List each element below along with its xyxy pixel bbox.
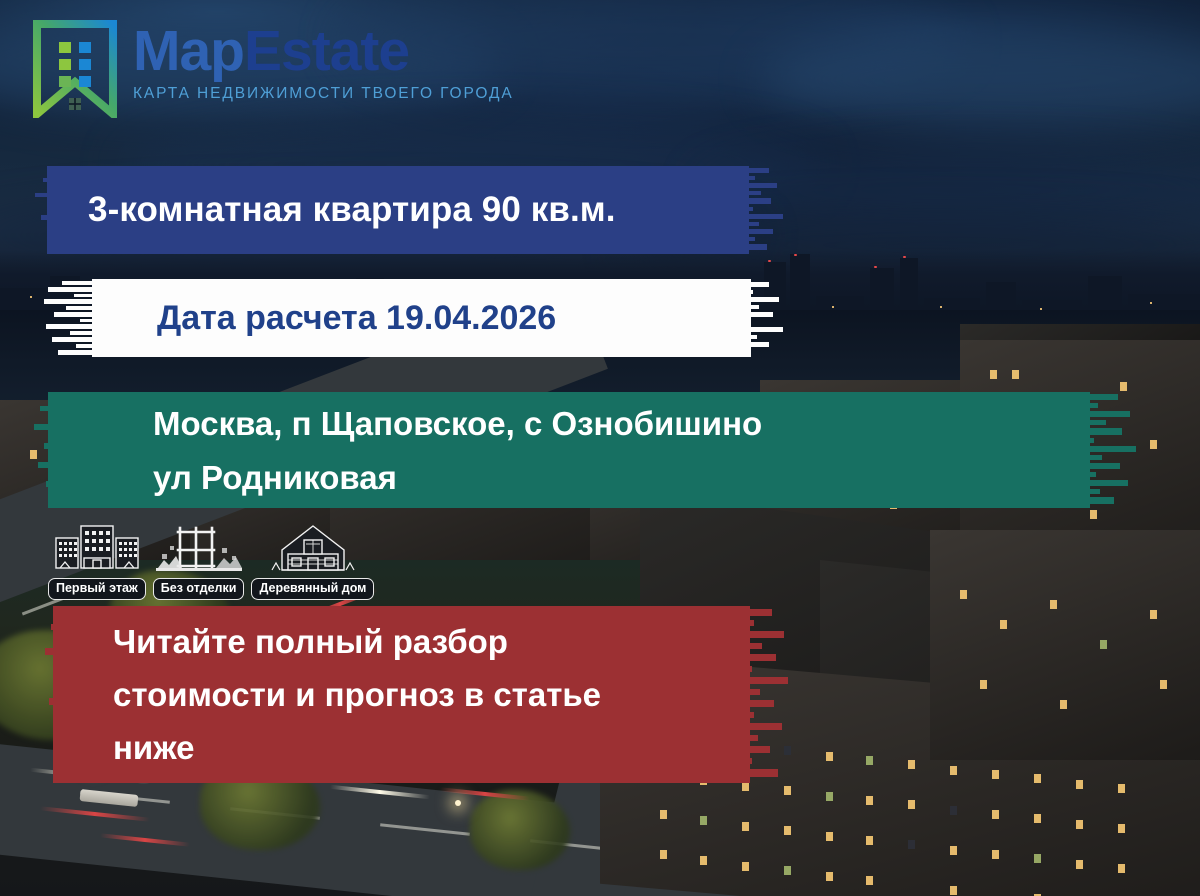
property-banner: 3-комнатная квартира 90 кв.м. (47, 166, 789, 254)
cta-line-1: Читайте полный разбор (113, 615, 601, 668)
address-line-2: ул Родниковая (153, 451, 762, 505)
property-banner-text: 3-комнатная квартира 90 кв.м. (47, 190, 616, 230)
address-line-1: Москва, п Щаповское, с Ознобишино (153, 397, 762, 451)
logo-title: MapEstate (133, 24, 514, 80)
feature-wooden-house[interactable]: Деревянный дом (251, 524, 374, 600)
feature-no-finishing[interactable]: Без отделки (153, 524, 245, 600)
cta-line-2: стоимости и прогноз в статье (113, 668, 601, 721)
cta-line-3: ниже (113, 721, 601, 774)
feature-label: Без отделки (153, 578, 245, 600)
address-banner: Москва, п Щаповское, с Ознобишино ул Род… (48, 392, 1138, 508)
cta-banner: Читайте полный разбор стоимости и прогно… (53, 606, 788, 783)
feature-first-floor[interactable]: Первый этаж (48, 524, 146, 600)
feature-label: Первый этаж (48, 578, 146, 600)
apartment-building-icon (54, 524, 140, 576)
bookmark-building-icon (33, 20, 117, 118)
logo-subtitle: КАРТА НЕДВИЖИМОСТИ ТВОЕГО ГОРОДА (133, 85, 514, 103)
address-banner-text: Москва, п Щаповское, с Ознобишино ул Род… (48, 395, 762, 505)
wooden-house-icon (268, 524, 358, 576)
logo-title-estate: Estate (244, 19, 409, 83)
brand-logo[interactable]: MapEstate КАРТА НЕДВИЖИМОСТИ ТВОЕГО ГОРО… (33, 20, 514, 118)
feature-badges: Первый этаж (48, 524, 374, 600)
cta-banner-text: Читайте полный разбор стоимости и прогно… (53, 615, 601, 774)
logo-title-map: Map (133, 19, 244, 83)
unfinished-construction-icon (156, 524, 242, 576)
feature-label: Деревянный дом (251, 578, 374, 600)
date-banner-text: Дата расчета 19.04.2026 (58, 299, 556, 338)
date-banner: Дата расчета 19.04.2026 (58, 279, 793, 357)
